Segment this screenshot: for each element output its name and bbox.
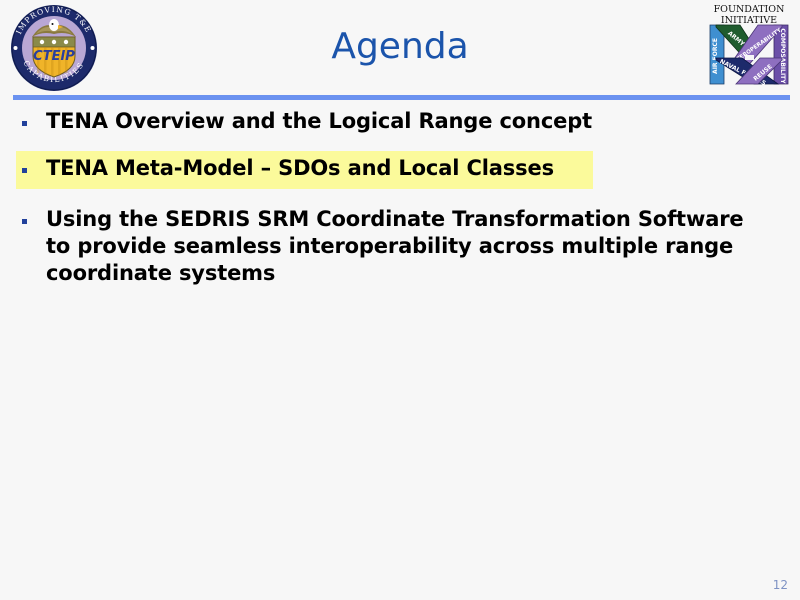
foundation-initiative-logo: FOUNDATION INITIATIVE AIR FORCE COMPOSAB… — [702, 0, 797, 92]
bullet-text-2: TENA Meta-Model – SDOs and Local Classes — [46, 155, 593, 182]
bullet-marker-icon — [22, 155, 46, 185]
slide-canvas: IMPROVING T&E CAPABILITIES — [0, 0, 800, 600]
fi-title-line2: INITIATIVE — [721, 15, 777, 26]
svg-text:COMPOSABILITY: COMPOSABILITY — [779, 28, 786, 84]
bullet-item-1: TENA Overview and the Logical Range conc… — [0, 104, 800, 142]
bullet-text-3: Using the SEDRIS SRM Coordinate Transfor… — [46, 206, 780, 287]
slide-title: Agenda — [110, 24, 690, 70]
cteip-seal-logo: IMPROVING T&E CAPABILITIES — [8, 4, 100, 92]
bullet-marker-icon — [22, 206, 46, 236]
bullet-marker-icon — [22, 108, 46, 138]
page-number: 12 — [773, 578, 788, 592]
bullet-item-2: TENA Meta-Model – SDOs and Local Classes — [16, 151, 593, 189]
svg-text:AIR FORCE: AIR FORCE — [712, 38, 719, 74]
slide-body: TENA Overview and the Logical Range conc… — [0, 100, 800, 570]
bullet-text-1: TENA Overview and the Logical Range conc… — [46, 108, 800, 135]
fi-title-line1: FOUNDATION — [714, 4, 785, 15]
cteip-shield-text: CTEIP — [33, 49, 75, 64]
bullet-item-3: Using the SEDRIS SRM Coordinate Transfor… — [0, 202, 800, 291]
slide-header: IMPROVING T&E CAPABILITIES — [0, 0, 800, 96]
